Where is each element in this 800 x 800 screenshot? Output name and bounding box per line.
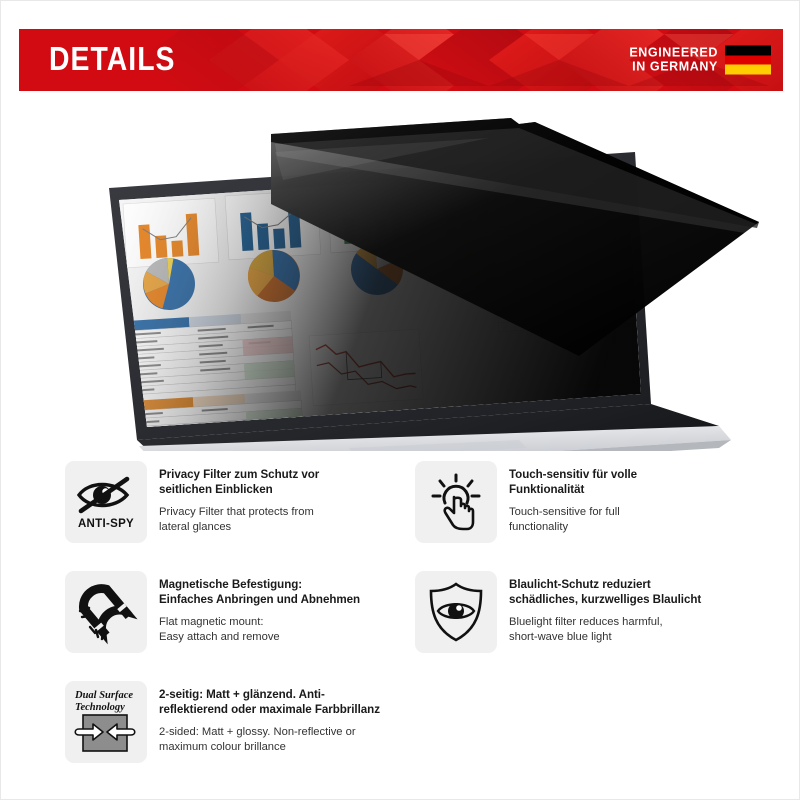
- feature-row-3: Dual Surface Technology 2-seitig: Matt +…: [65, 681, 781, 763]
- subtext-line-1: Privacy Filter that protects from: [159, 505, 405, 520]
- feature-text: 2-seitig: Matt + glänzend. Anti- reflekt…: [159, 681, 415, 763]
- feature-icon-tile: [415, 461, 497, 543]
- magnet-icon: [71, 577, 141, 647]
- subtext-line-1: 2-sided: Matt + glossy. Non-reflective o…: [159, 725, 415, 740]
- dual-surface-label-line-2: Technology: [75, 702, 125, 713]
- subtext-line-2: functionality: [509, 520, 755, 535]
- shield-eye-icon: [421, 577, 491, 647]
- feature-text: Magnetische Befestigung: Einfaches Anbri…: [159, 571, 405, 653]
- dual-surface-label-line-1: Dual Surface: [74, 690, 133, 701]
- headline-line-2: reflektierend oder maximale Farbbrillanz: [159, 702, 415, 717]
- feature-subtext: Privacy Filter that protects from latera…: [159, 505, 405, 535]
- feature-subtext: Touch-sensitive for full functionality: [509, 505, 755, 535]
- subtext-line-1: Bluelight filter reduces harmful,: [509, 615, 755, 630]
- feature-text: Privacy Filter zum Schutz vor seitlichen…: [159, 461, 405, 543]
- feature-headline: Magnetische Befestigung: Einfaches Anbri…: [159, 577, 405, 608]
- headline-line-2: Einfaches Anbringen und Abnehmen: [159, 592, 405, 607]
- details-header-banner: DETAILS ENGINEERED IN GERMANY: [19, 29, 783, 91]
- feature-text: Blaulicht-Schutz reduziert schädliches, …: [509, 571, 755, 653]
- feature-magnetic-mount: Magnetische Befestigung: Einfaches Anbri…: [65, 571, 415, 653]
- feature-anti-spy: ANTI-SPY Privacy Filter zum Schutz vor s…: [65, 461, 415, 543]
- feature-icon-tile: [65, 571, 147, 653]
- german-flag-icon: [725, 46, 771, 75]
- headline-line-1: Magnetische Befestigung:: [159, 577, 405, 592]
- touch-finger-icon: [421, 467, 491, 537]
- headline-line-1: Privacy Filter zum Schutz vor: [159, 467, 405, 482]
- engineered-line-1: ENGINEERED: [629, 47, 718, 61]
- anti-spy-label: ANTI-SPY: [78, 518, 134, 530]
- headline-line-1: Blaulicht-Schutz reduziert: [509, 577, 755, 592]
- feature-icon-tile: [415, 571, 497, 653]
- feature-text: Touch-sensitiv für volle Funktionalität …: [509, 461, 755, 543]
- subtext-line-1: Flat magnetic mount:: [159, 615, 405, 630]
- product-detail-sheet: DETAILS ENGINEERED IN GERMANY Beispielab…: [0, 0, 800, 800]
- product-photo: Beispielabbildung | Sample illustration: [19, 96, 783, 451]
- feature-touch-sensitive: Touch-sensitiv für volle Funktionalität …: [415, 461, 765, 543]
- subtext-line-1: Touch-sensitive for full: [509, 505, 755, 520]
- feature-headline: 2-seitig: Matt + glänzend. Anti- reflekt…: [159, 687, 415, 718]
- headline-line-2: seitlichen Einblicken: [159, 482, 405, 497]
- feature-subtext: Bluelight filter reduces harmful, short-…: [509, 615, 755, 645]
- headline-line-2: schädliches, kurzwelliges Blaulicht: [509, 592, 755, 607]
- page-title: DETAILS: [49, 40, 176, 78]
- feature-headline: Privacy Filter zum Schutz vor seitlichen…: [159, 467, 405, 498]
- feature-bluelight-filter: Blaulicht-Schutz reduziert schädliches, …: [415, 571, 765, 653]
- feature-dual-surface: Dual Surface Technology 2-seitig: Matt +…: [65, 681, 415, 763]
- subtext-line-2: Easy attach and remove: [159, 630, 405, 645]
- engineered-line-2: IN GERMANY: [629, 60, 718, 74]
- engineered-text: ENGINEERED IN GERMANY: [629, 47, 718, 74]
- subtext-line-2: short-wave blue light: [509, 630, 755, 645]
- feature-row-1: ANTI-SPY Privacy Filter zum Schutz vor s…: [65, 461, 781, 543]
- feature-subtext: Flat magnetic mount: Easy attach and rem…: [159, 615, 405, 645]
- feature-row-2: Magnetische Befestigung: Einfaches Anbri…: [65, 571, 781, 653]
- feature-icon-tile: Dual Surface Technology: [65, 681, 147, 763]
- headline-line-1: 2-seitig: Matt + glänzend. Anti-: [159, 687, 415, 702]
- dual-surface-icon: Dual Surface Technology: [69, 685, 143, 759]
- headline-line-1: Touch-sensitiv für volle: [509, 467, 755, 482]
- anti-spy-eye-icon: ANTI-SPY: [71, 467, 141, 537]
- subtext-line-2: lateral glances: [159, 520, 405, 535]
- feature-subtext: 2-sided: Matt + glossy. Non-reflective o…: [159, 725, 415, 755]
- laptop-illustration: [19, 96, 783, 451]
- feature-headline: Blaulicht-Schutz reduziert schädliches, …: [509, 577, 755, 608]
- feature-icon-tile: ANTI-SPY: [65, 461, 147, 543]
- feature-headline: Touch-sensitiv für volle Funktionalität: [509, 467, 755, 498]
- feature-list: ANTI-SPY Privacy Filter zum Schutz vor s…: [65, 461, 781, 763]
- headline-line-2: Funktionalität: [509, 482, 755, 497]
- subtext-line-2: maximum colour brillance: [159, 740, 415, 755]
- engineered-in-germany-badge: ENGINEERED IN GERMANY: [629, 46, 771, 75]
